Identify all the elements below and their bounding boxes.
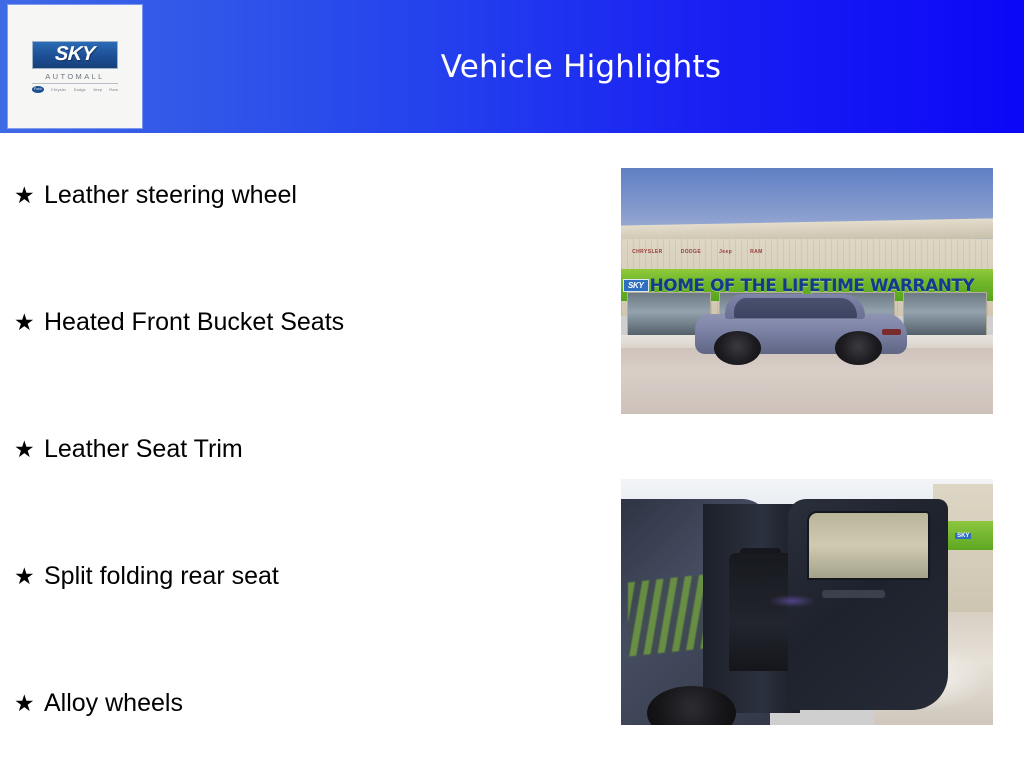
list-item: ★ Leather Seat Trim <box>14 432 243 466</box>
dealer-logo-inner: SKY AUTOMALL Ford Chrysler Dodge Jeep Ra… <box>32 41 118 93</box>
brand-mark-chrysler: Chrysler <box>51 86 67 93</box>
feature-label: Split folding rear seat <box>44 559 279 593</box>
oem-brand-strip: Ford Chrysler Dodge Jeep Ram <box>32 86 118 93</box>
brand-mark-ram: Ram <box>109 86 118 93</box>
storefront-brand-chrysler: CHRYSLER <box>632 249 663 255</box>
slide-header: SKY AUTOMALL Ford Chrysler Dodge Jeep Ra… <box>0 0 1024 133</box>
brand-mark-jeep: Jeep <box>93 86 102 93</box>
star-icon: ★ <box>14 560 44 594</box>
vehicle-photo-interior: SKY <box>621 479 993 725</box>
storefront-brand-jeep: Jeep <box>719 249 732 255</box>
page-title-text: Vehicle Highlights <box>441 49 721 85</box>
page-title: Vehicle Highlights <box>142 0 1024 133</box>
feature-list: ★ Leather steering wheel ★ Heated Front … <box>0 133 600 768</box>
brand-mark-dodge: Dodge <box>74 86 86 93</box>
feature-label: Leather Seat Trim <box>44 432 243 466</box>
star-icon: ★ <box>14 687 44 721</box>
storefront-brand-dodge: DODGE <box>681 249 701 255</box>
feature-label: Heated Front Bucket Seats <box>44 305 344 339</box>
feature-label: Alloy wheels <box>44 686 183 720</box>
suv-glass <box>734 298 857 318</box>
lens-flare <box>770 595 815 607</box>
list-item: ★ Alloy wheels <box>14 686 183 720</box>
brand-mark-ford: Ford <box>32 86 44 93</box>
suv-front-wheel <box>714 331 761 365</box>
banner-sky-badge: SKY <box>623 279 649 292</box>
dealer-logo: SKY AUTOMALL Ford Chrysler Dodge Jeep Ra… <box>8 5 142 128</box>
star-icon: ★ <box>14 306 44 340</box>
suv-silhouette <box>695 291 907 365</box>
storefront-brand-ram: RAM <box>750 249 763 255</box>
sky-badge: SKY <box>32 41 118 69</box>
star-icon: ★ <box>14 179 44 213</box>
door-window <box>807 511 930 580</box>
storefront-window <box>903 292 987 336</box>
list-item: ★ Heated Front Bucket Seats <box>14 305 344 339</box>
storefront-brand-strip: CHRYSLER DODGE Jeep RAM <box>621 243 993 260</box>
slide-root: SKY AUTOMALL Ford Chrysler Dodge Jeep Ra… <box>0 0 1024 768</box>
list-item: ★ Leather steering wheel <box>14 178 297 212</box>
suv-taillight <box>882 329 901 336</box>
vehicle-photo-exterior: CHRYSLER DODGE Jeep RAM SKY HOME OF THE … <box>621 168 993 414</box>
list-item: ★ Split folding rear seat <box>14 559 279 593</box>
banner-sky-badge: SKY <box>955 533 971 539</box>
logo-divider <box>32 83 118 84</box>
sky-badge-text: SKY <box>54 43 95 66</box>
suv-rear-wheel <box>835 331 882 365</box>
feature-label: Leather steering wheel <box>44 178 297 212</box>
star-icon: ★ <box>14 433 44 467</box>
door-pull-handle <box>822 590 885 599</box>
automall-text: AUTOMALL <box>32 72 118 81</box>
